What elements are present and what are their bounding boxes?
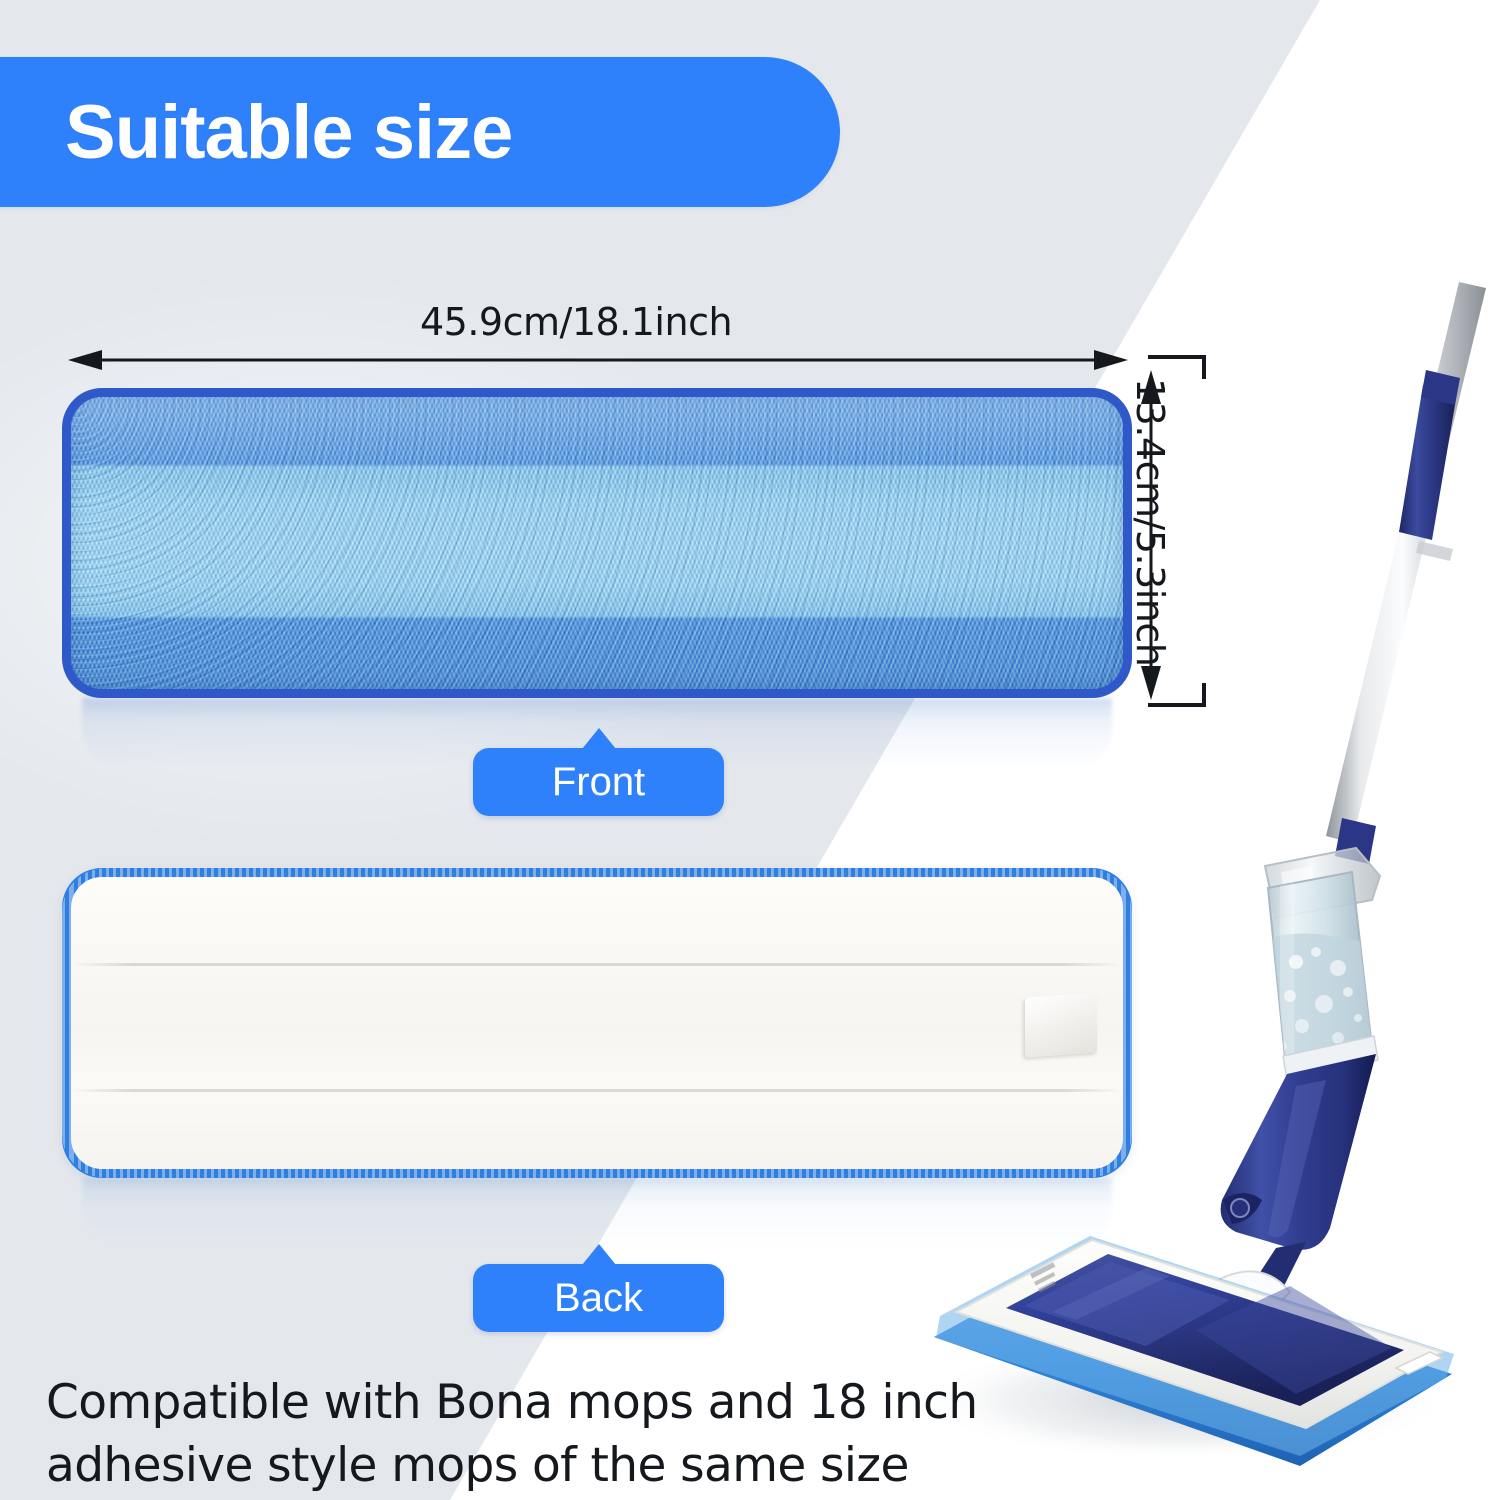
back-pad-image — [62, 868, 1132, 1178]
header-banner: Suitable size — [0, 57, 840, 207]
badge-pointer-icon — [582, 1244, 616, 1265]
front-pad-image — [62, 388, 1132, 698]
width-dimension-label: 45.9cm/18.1inch — [420, 300, 732, 344]
width-dimension-arrow — [68, 347, 1128, 373]
back-pad-seam-bottom — [71, 1089, 1123, 1092]
caption-line-1: Compatible with Bona mops and 18 inch — [46, 1372, 978, 1435]
back-pad-stitching — [62, 868, 1132, 1178]
badge-pointer-icon — [582, 728, 616, 749]
back-label-badge: Back — [473, 1264, 724, 1332]
corner-tick-bottom — [1148, 683, 1206, 707]
back-pad-corner-flap — [1025, 992, 1097, 1057]
back-badge-label: Back — [554, 1276, 643, 1321]
page-title: Suitable size — [65, 89, 512, 176]
back-pad-seam-top — [71, 963, 1123, 966]
infographic-canvas: Suitable size 45.9cm/18.1inch 13.4cm/5.3… — [0, 0, 1500, 1500]
background-white-wedge — [0, 0, 1500, 1500]
compatibility-caption: Compatible with Bona mops and 18 inch ad… — [46, 1372, 978, 1497]
front-pad-sheen — [71, 397, 1123, 689]
front-label-badge: Front — [473, 748, 724, 816]
height-dimension-label: 13.4cm/5.3inch — [1128, 378, 1172, 666]
corner-tick-top — [1148, 355, 1206, 379]
arrow-left-right-icon — [68, 347, 1128, 373]
caption-line-2: adhesive style mops of the same size — [46, 1435, 978, 1498]
front-badge-label: Front — [552, 760, 645, 805]
